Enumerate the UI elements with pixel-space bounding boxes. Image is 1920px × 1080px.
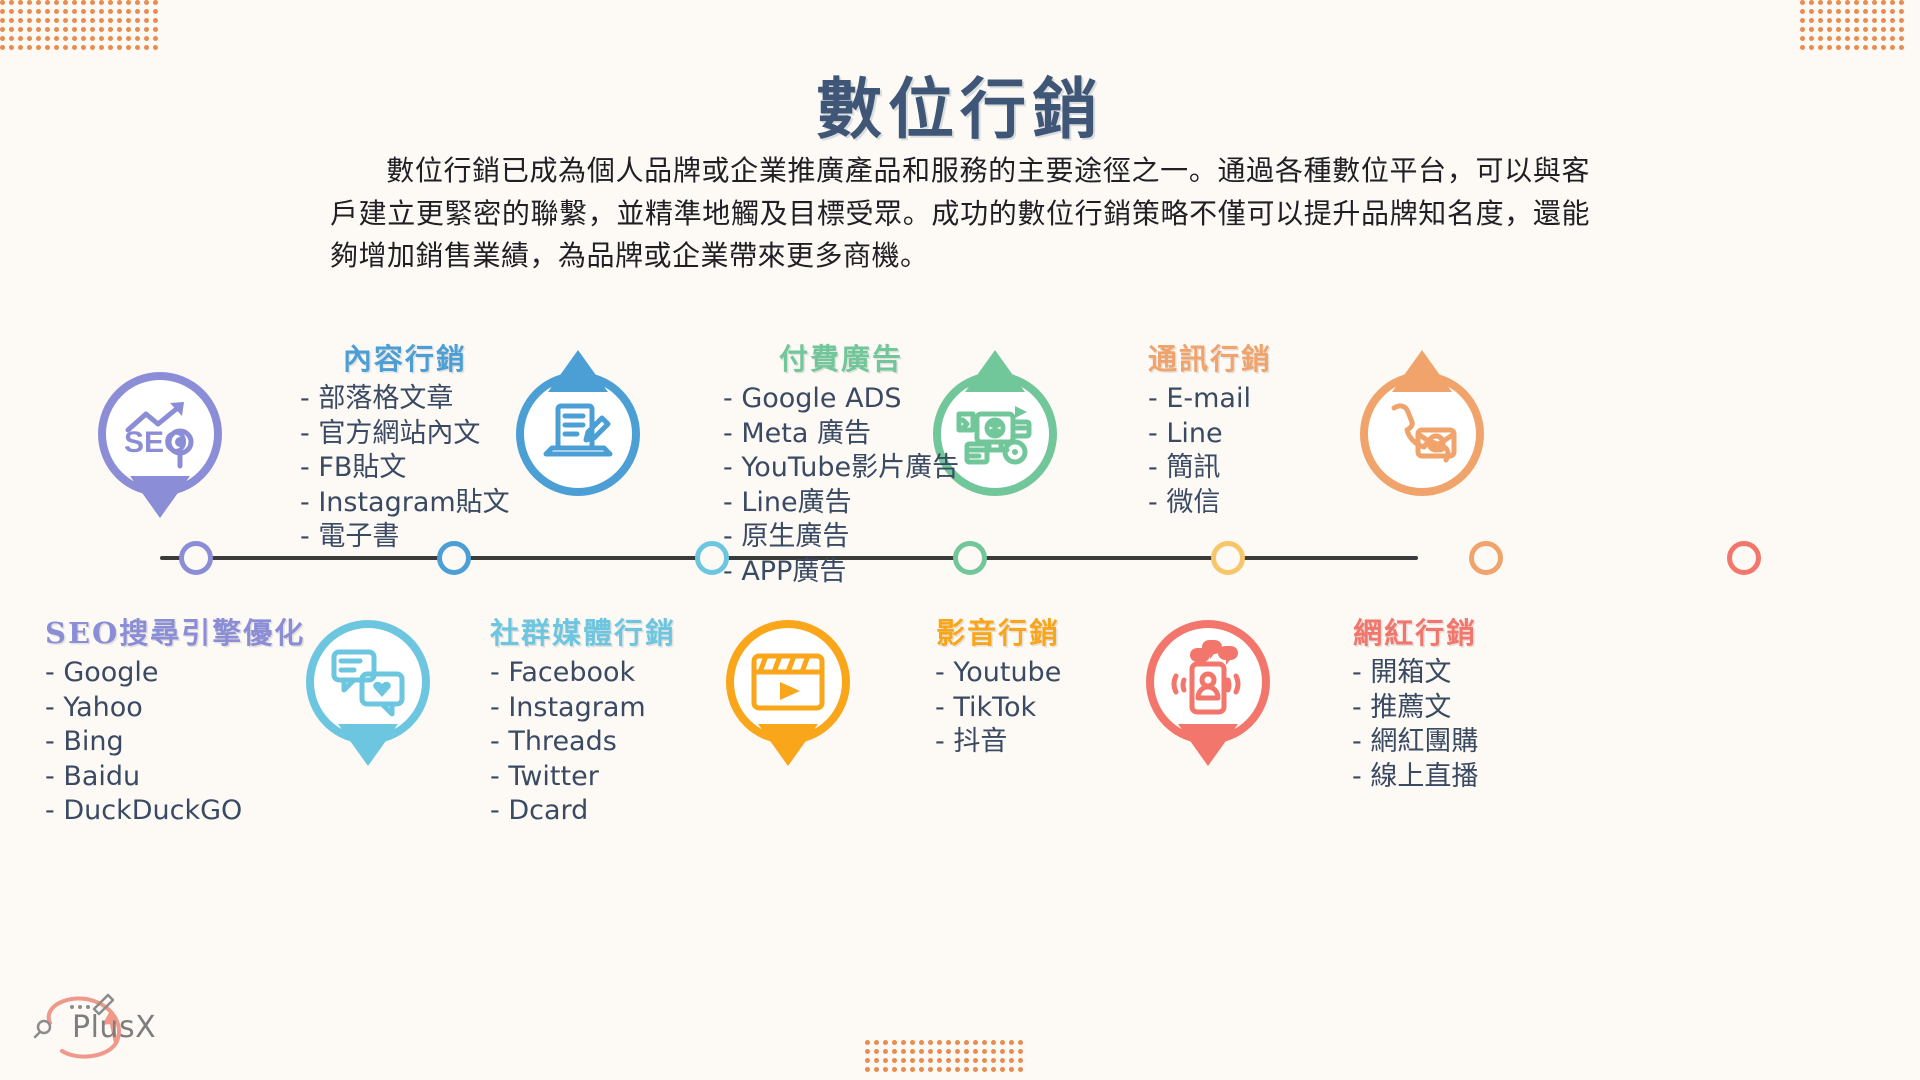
list-item: - E-mail: [1148, 382, 1272, 417]
section-heading-video: 影音行銷: [935, 610, 1061, 652]
section-list-social: - Facebook- Instagram- Threads- Twitter-…: [490, 656, 676, 829]
pin-marker-video[interactable]: [726, 620, 850, 744]
intro-paragraph: 數位行銷已成為個人品牌或企業推廣產品和服務的主要途徑之一。通過各種數位平台，可以…: [330, 150, 1590, 278]
section-heading-social: 社群媒體行銷: [490, 610, 676, 652]
timeline-node-video[interactable]: [1211, 541, 1245, 575]
section-message: 通訊行銷- E-mail- Line- 簡訊- 微信: [1148, 336, 1272, 520]
pin-marker-message[interactable]: [1360, 372, 1484, 496]
timeline-node-seo[interactable]: [179, 541, 213, 575]
page-title: 數位行銷: [0, 56, 1920, 152]
section-social: 社群媒體行銷- Facebook- Instagram- Threads- Tw…: [490, 610, 676, 829]
list-item: - 網紅團購: [1352, 725, 1478, 760]
section-list-content: - 部落格文章- 官方網站內文- FB貼文- Instagram貼文- 電子書: [300, 382, 510, 555]
list-item: - Baidu: [45, 760, 305, 795]
section-heading-influencer: 網紅行銷: [1352, 610, 1478, 652]
list-item: - Threads: [490, 725, 676, 760]
timeline-node-influencer[interactable]: [1727, 541, 1761, 575]
list-item: - 原生廣告: [723, 520, 959, 555]
list-item: - Google: [45, 656, 305, 691]
pin-marker-social[interactable]: [306, 620, 430, 744]
pin-marker-content[interactable]: [516, 372, 640, 496]
list-item: - Bing: [45, 725, 305, 760]
timeline-node-message[interactable]: [1469, 541, 1503, 575]
infographic-canvas: 數位行銷 數位行銷已成為個人品牌或企業推廣產品和服務的主要途徑之一。通過各種數位…: [0, 0, 1920, 1080]
list-item: - TikTok: [935, 691, 1061, 726]
list-item: - 推薦文: [1352, 691, 1478, 726]
list-item: - 抖音: [935, 725, 1061, 760]
list-item: - 線上直播: [1352, 760, 1478, 795]
laptop-document-pen-icon: [516, 372, 640, 496]
list-item: - 簡訊: [1148, 451, 1272, 486]
section-list-paid: - Google ADS- Meta 廣告- YouTube影片廣告- Line…: [723, 382, 959, 590]
list-item: - 電子書: [300, 520, 510, 555]
section-list-seo: - Google- Yahoo- Bing- Baidu- DuckDuckGO: [45, 656, 305, 829]
list-item: - APP廣告: [723, 555, 959, 590]
pin-marker-influencer[interactable]: [1146, 620, 1270, 744]
section-list-video: - Youtube- TikTok- 抖音: [935, 656, 1061, 760]
pin-marker-seo[interactable]: SEO: [98, 372, 222, 496]
video-player-play-icon: [726, 620, 850, 744]
phone-person-chat-icon: [1146, 620, 1270, 744]
list-item: - Twitter: [490, 760, 676, 795]
paragraph-text: 數位行銷已成為個人品牌或企業推廣產品和服務的主要途徑之一。通過各種數位平台，可以…: [330, 154, 1590, 272]
chat-bubbles-heart-icon: [306, 620, 430, 744]
list-item: - Line廣告: [723, 486, 959, 521]
section-heading-paid: 付費廣告: [723, 336, 959, 378]
list-item: - Yahoo: [45, 691, 305, 726]
list-item: - DuckDuckGO: [45, 794, 305, 829]
section-paid: 付費廣告- Google ADS- Meta 廣告- YouTube影片廣告- …: [723, 336, 959, 590]
list-item: - Instagram: [490, 691, 676, 726]
plusx-logo: PlusX: [20, 985, 170, 1065]
list-item: - Youtube: [935, 656, 1061, 691]
section-heading-content: 內容行銷: [300, 336, 510, 378]
section-list-influencer: - 開箱文- 推薦文- 網紅團購- 線上直播: [1352, 656, 1478, 794]
logo-text: PlusX: [72, 1010, 156, 1045]
section-content: 內容行銷- 部落格文章- 官方網站內文- FB貼文- Instagram貼文- …: [300, 336, 510, 555]
section-video: 影音行銷- Youtube- TikTok- 抖音: [935, 610, 1061, 760]
seo-trend-magnifier-icon: SEO: [98, 372, 222, 496]
list-item: - Dcard: [490, 794, 676, 829]
list-item: - FB貼文: [300, 451, 510, 486]
section-influencer: 網紅行銷- 開箱文- 推薦文- 網紅團購- 線上直播: [1352, 610, 1478, 794]
list-item: - Meta 廣告: [723, 417, 959, 452]
list-item: - Line: [1148, 417, 1272, 452]
list-item: - Instagram貼文: [300, 486, 510, 521]
list-item: - 微信: [1148, 486, 1272, 521]
phone-envelope-at-icon: [1360, 372, 1484, 496]
section-heading-seo: SEO搜尋引擎優化: [45, 610, 305, 652]
section-list-message: - E-mail- Line- 簡訊- 微信: [1148, 382, 1272, 520]
list-item: - Facebook: [490, 656, 676, 691]
list-item: - YouTube影片廣告: [723, 451, 959, 486]
section-seo: SEO搜尋引擎優化- Google- Yahoo- Bing- Baidu- D…: [45, 610, 305, 829]
list-item: - Google ADS: [723, 382, 959, 417]
list-item: - 部落格文章: [300, 382, 510, 417]
list-item: - 官方網站內文: [300, 417, 510, 452]
section-heading-message: 通訊行銷: [1148, 336, 1272, 378]
list-item: - 開箱文: [1352, 656, 1478, 691]
